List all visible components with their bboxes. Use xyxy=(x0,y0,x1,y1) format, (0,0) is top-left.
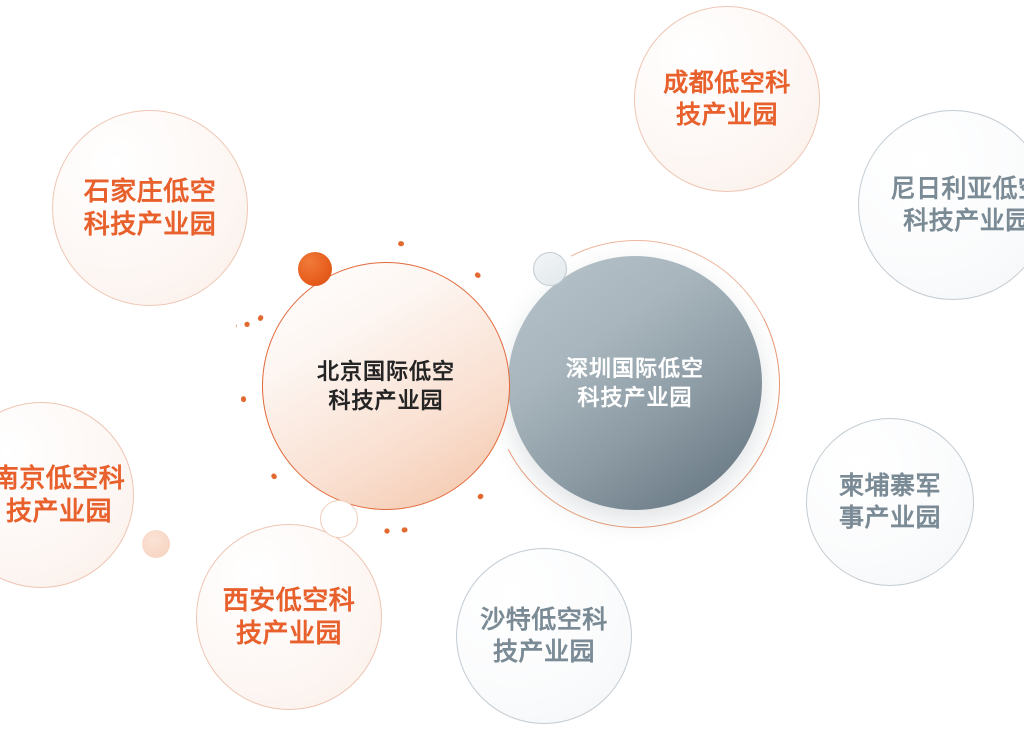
satellite-node-saudi-label: 沙特低空科 技产业园 xyxy=(480,604,608,668)
satellite-node-cambodia-label: 柬埔寨军 事产业园 xyxy=(839,470,941,534)
satellite-node-nigeria[interactable]: 尼日利亚低空 科技产业园 xyxy=(858,110,1024,300)
hero-node-shenzhen-label: 深圳国际低空 科技产业园 xyxy=(566,354,704,413)
diagram-canvas: 深圳国际低空 科技产业园 北京国际低空 科技产业园 成都低空科 技产业园 石家庄… xyxy=(0,0,1024,746)
satellite-node-shijiazhuang-label: 石家庄低空 科技产业园 xyxy=(84,175,217,242)
orange-marker-dot xyxy=(298,252,332,286)
grey-marker-dot xyxy=(533,252,567,286)
satellite-node-nigeria-label: 尼日利亚低空 科技产业园 xyxy=(890,173,1024,237)
satellite-node-chengdu-label: 成都低空科 技产业园 xyxy=(663,67,791,131)
hero-node-beijing-label: 北京国际低空 科技产业园 xyxy=(317,357,455,416)
satellite-node-xian-label: 西安低空科 技产业园 xyxy=(223,584,356,651)
satellite-node-nanjing[interactable]: 南京低空科 技产业园 xyxy=(0,402,134,588)
satellite-node-xian[interactable]: 西安低空科 技产业园 xyxy=(196,524,382,710)
hero-node-shenzhen[interactable]: 深圳国际低空 科技产业园 xyxy=(508,256,762,510)
hero-node-beijing[interactable]: 北京国际低空 科技产业园 xyxy=(262,262,510,510)
satellite-node-saudi[interactable]: 沙特低空科 技产业园 xyxy=(456,548,632,724)
small-outline-circle xyxy=(320,500,358,538)
satellite-node-cambodia[interactable]: 柬埔寨军 事产业园 xyxy=(806,418,974,586)
satellite-node-chengdu[interactable]: 成都低空科 技产业园 xyxy=(634,6,820,192)
satellite-node-nanjing-label: 南京低空科 技产业园 xyxy=(0,462,125,529)
tiny-peach-circle xyxy=(142,530,170,558)
satellite-node-shijiazhuang[interactable]: 石家庄低空 科技产业园 xyxy=(52,110,248,306)
